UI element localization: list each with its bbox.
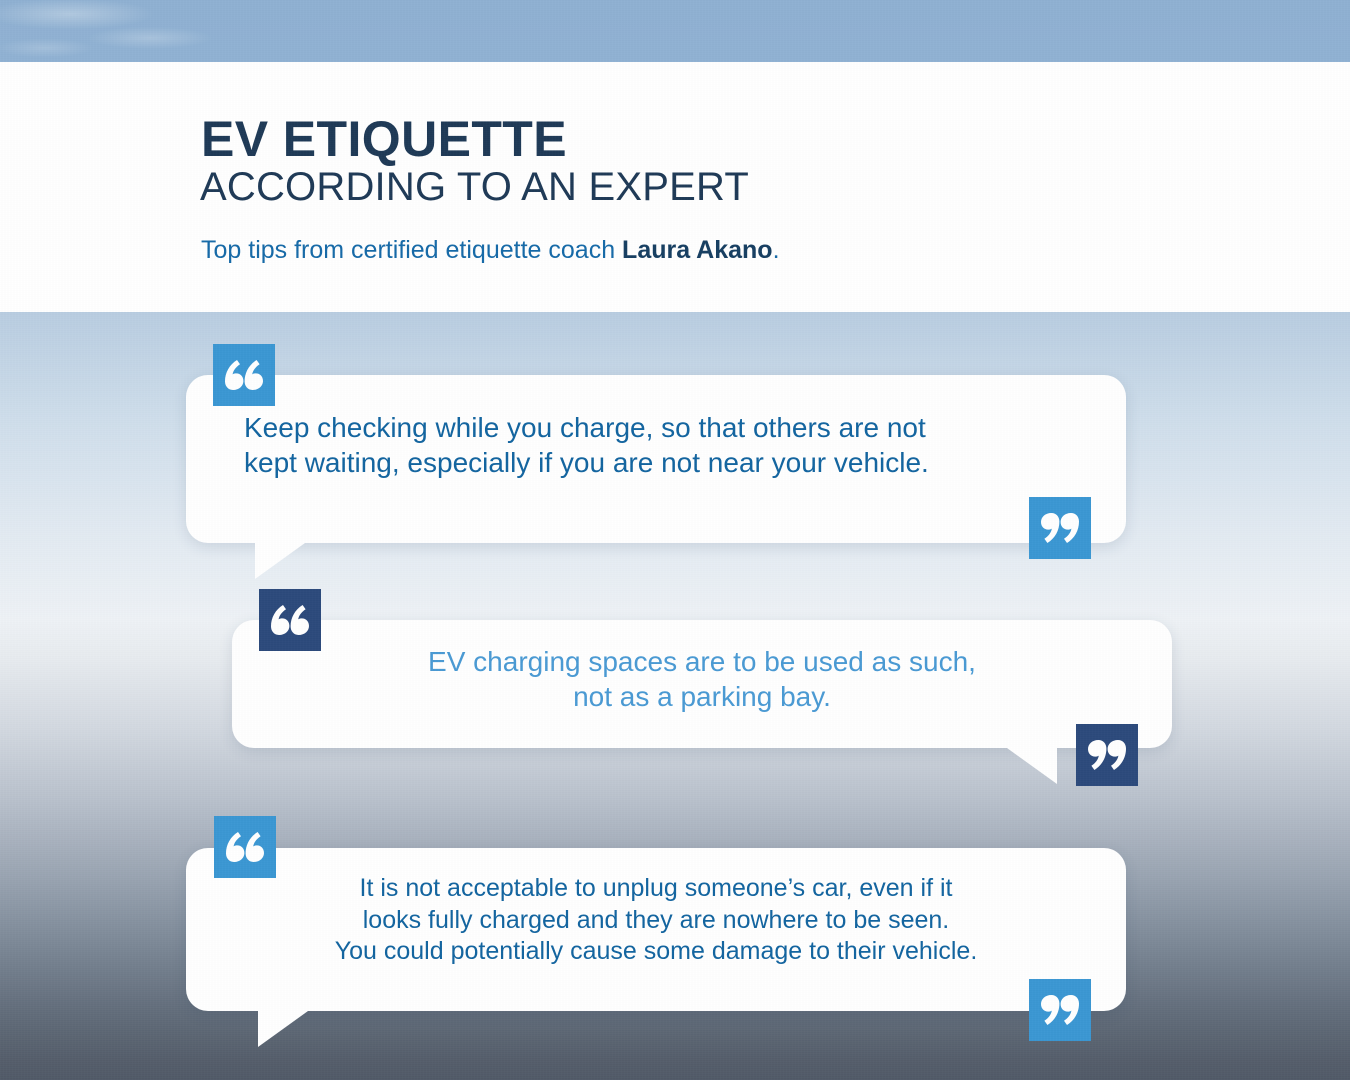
close-quote-icon <box>1029 497 1091 559</box>
byline-expert-name: Laura Akano <box>622 236 773 264</box>
byline-suffix: . <box>773 236 780 264</box>
cloud-wisp-decoration <box>0 0 330 62</box>
header-band: EV ETIQUETTE ACCORDING TO AN EXPERT Top … <box>0 62 1350 312</box>
quote-card-3: It is not acceptable to unplug someone’s… <box>186 848 1126 1011</box>
quote-text-1: Keep checking while you charge, so that … <box>244 410 1064 481</box>
page-subtitle: ACCORDING TO AN EXPERT <box>200 167 749 207</box>
quote-text-3: It is not acceptable to unplug someone’s… <box>242 873 1070 968</box>
close-quote-icon <box>1029 979 1091 1041</box>
quote-text-2: EV charging spaces are to be used as suc… <box>292 644 1112 715</box>
byline-prefix: Top tips from certified etiquette coach <box>201 236 622 264</box>
quote-card-2: EV charging spaces are to be used as suc… <box>232 620 1172 748</box>
quote-card-1: Keep checking while you charge, so that … <box>186 375 1126 543</box>
page-title: EV ETIQUETTE <box>201 114 567 164</box>
open-quote-icon <box>214 816 276 878</box>
open-quote-icon <box>259 589 321 651</box>
quote-tail-2 <box>1007 748 1057 784</box>
close-quote-icon <box>1076 724 1138 786</box>
quote-tail-1 <box>255 543 305 579</box>
byline: Top tips from certified etiquette coach … <box>201 238 780 263</box>
infographic-canvas: EV ETIQUETTE ACCORDING TO AN EXPERT Top … <box>0 0 1350 1080</box>
open-quote-icon <box>213 344 275 406</box>
quote-tail-3 <box>258 1011 308 1047</box>
